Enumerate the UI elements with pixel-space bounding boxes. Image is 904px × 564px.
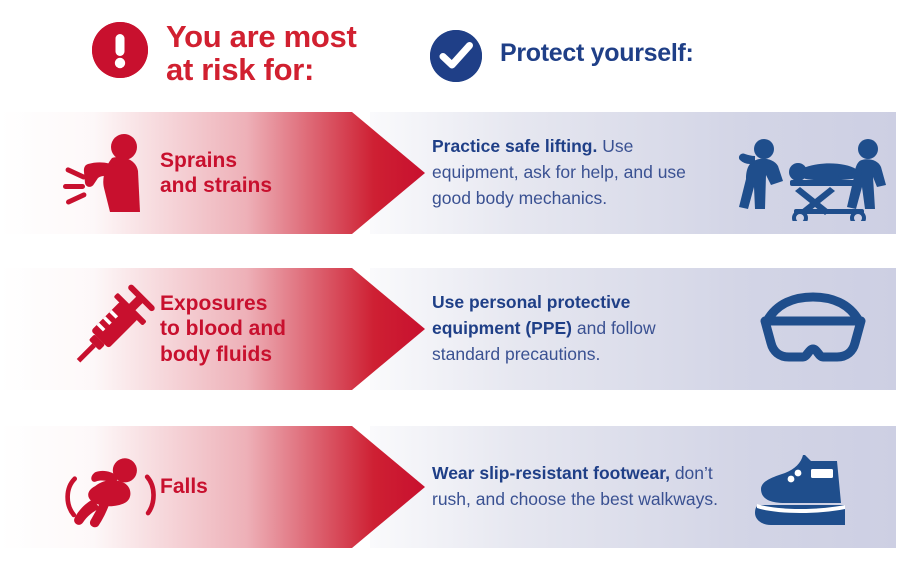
risk-label-falls: Falls (160, 426, 350, 548)
advice-text-sprains: Practice safe lifting. Use equipment, as… (432, 112, 722, 234)
header-group-risk: You are most at risk for: (92, 22, 356, 87)
risk-label-line2: to blood and (160, 316, 286, 341)
risk-row-sprains: Sprains and strains Practice safe liftin… (0, 112, 904, 234)
page-title-risk-line2: at risk for: (166, 53, 356, 86)
advice-text-exposures: Use personal protective equipment (PPE) … (432, 268, 722, 390)
work-boot-icon (730, 426, 896, 548)
advice-bold: Practice safe lifting. (432, 136, 597, 156)
falling-person-icon (58, 442, 162, 534)
header-group-protect: Protect yourself: (430, 30, 694, 82)
risk-label-line1: Sprains (160, 148, 272, 173)
risk-label-exposures: Exposures to blood and body fluids (160, 268, 350, 390)
advice-bold: Wear slip-resistant footwear, (432, 463, 670, 483)
risk-row-exposures: Exposures to blood and body fluids Use p… (0, 268, 904, 390)
advice-text-falls: Wear slip-resistant footwear, don’t rush… (432, 426, 722, 548)
risk-label-sprains: Sprains and strains (160, 112, 350, 234)
back-injury-icon (58, 128, 162, 220)
page-title-protect: Protect yourself: (500, 40, 694, 67)
infographic-header: You are most at risk for: Protect yourse… (0, 0, 904, 112)
risk-label-line3: body fluids (160, 342, 286, 367)
risk-label-line1: Falls (160, 474, 208, 499)
safety-goggles-icon (730, 268, 896, 390)
page-title-risk: You are most at risk for: (166, 20, 356, 87)
page-title-risk-line1: You are most (166, 20, 356, 53)
check-circle-icon (430, 30, 482, 82)
risk-label-line1: Exposures (160, 291, 286, 316)
stretcher-carry-icon (730, 112, 896, 234)
exclamation-circle-icon (92, 22, 148, 78)
risk-row-falls: Falls Wear slip-resistant footwear, don’… (0, 426, 904, 548)
syringe-icon (58, 284, 162, 376)
workplace-safety-infographic: You are most at risk for: Protect yourse… (0, 0, 904, 564)
risk-label-line2: and strains (160, 173, 272, 198)
